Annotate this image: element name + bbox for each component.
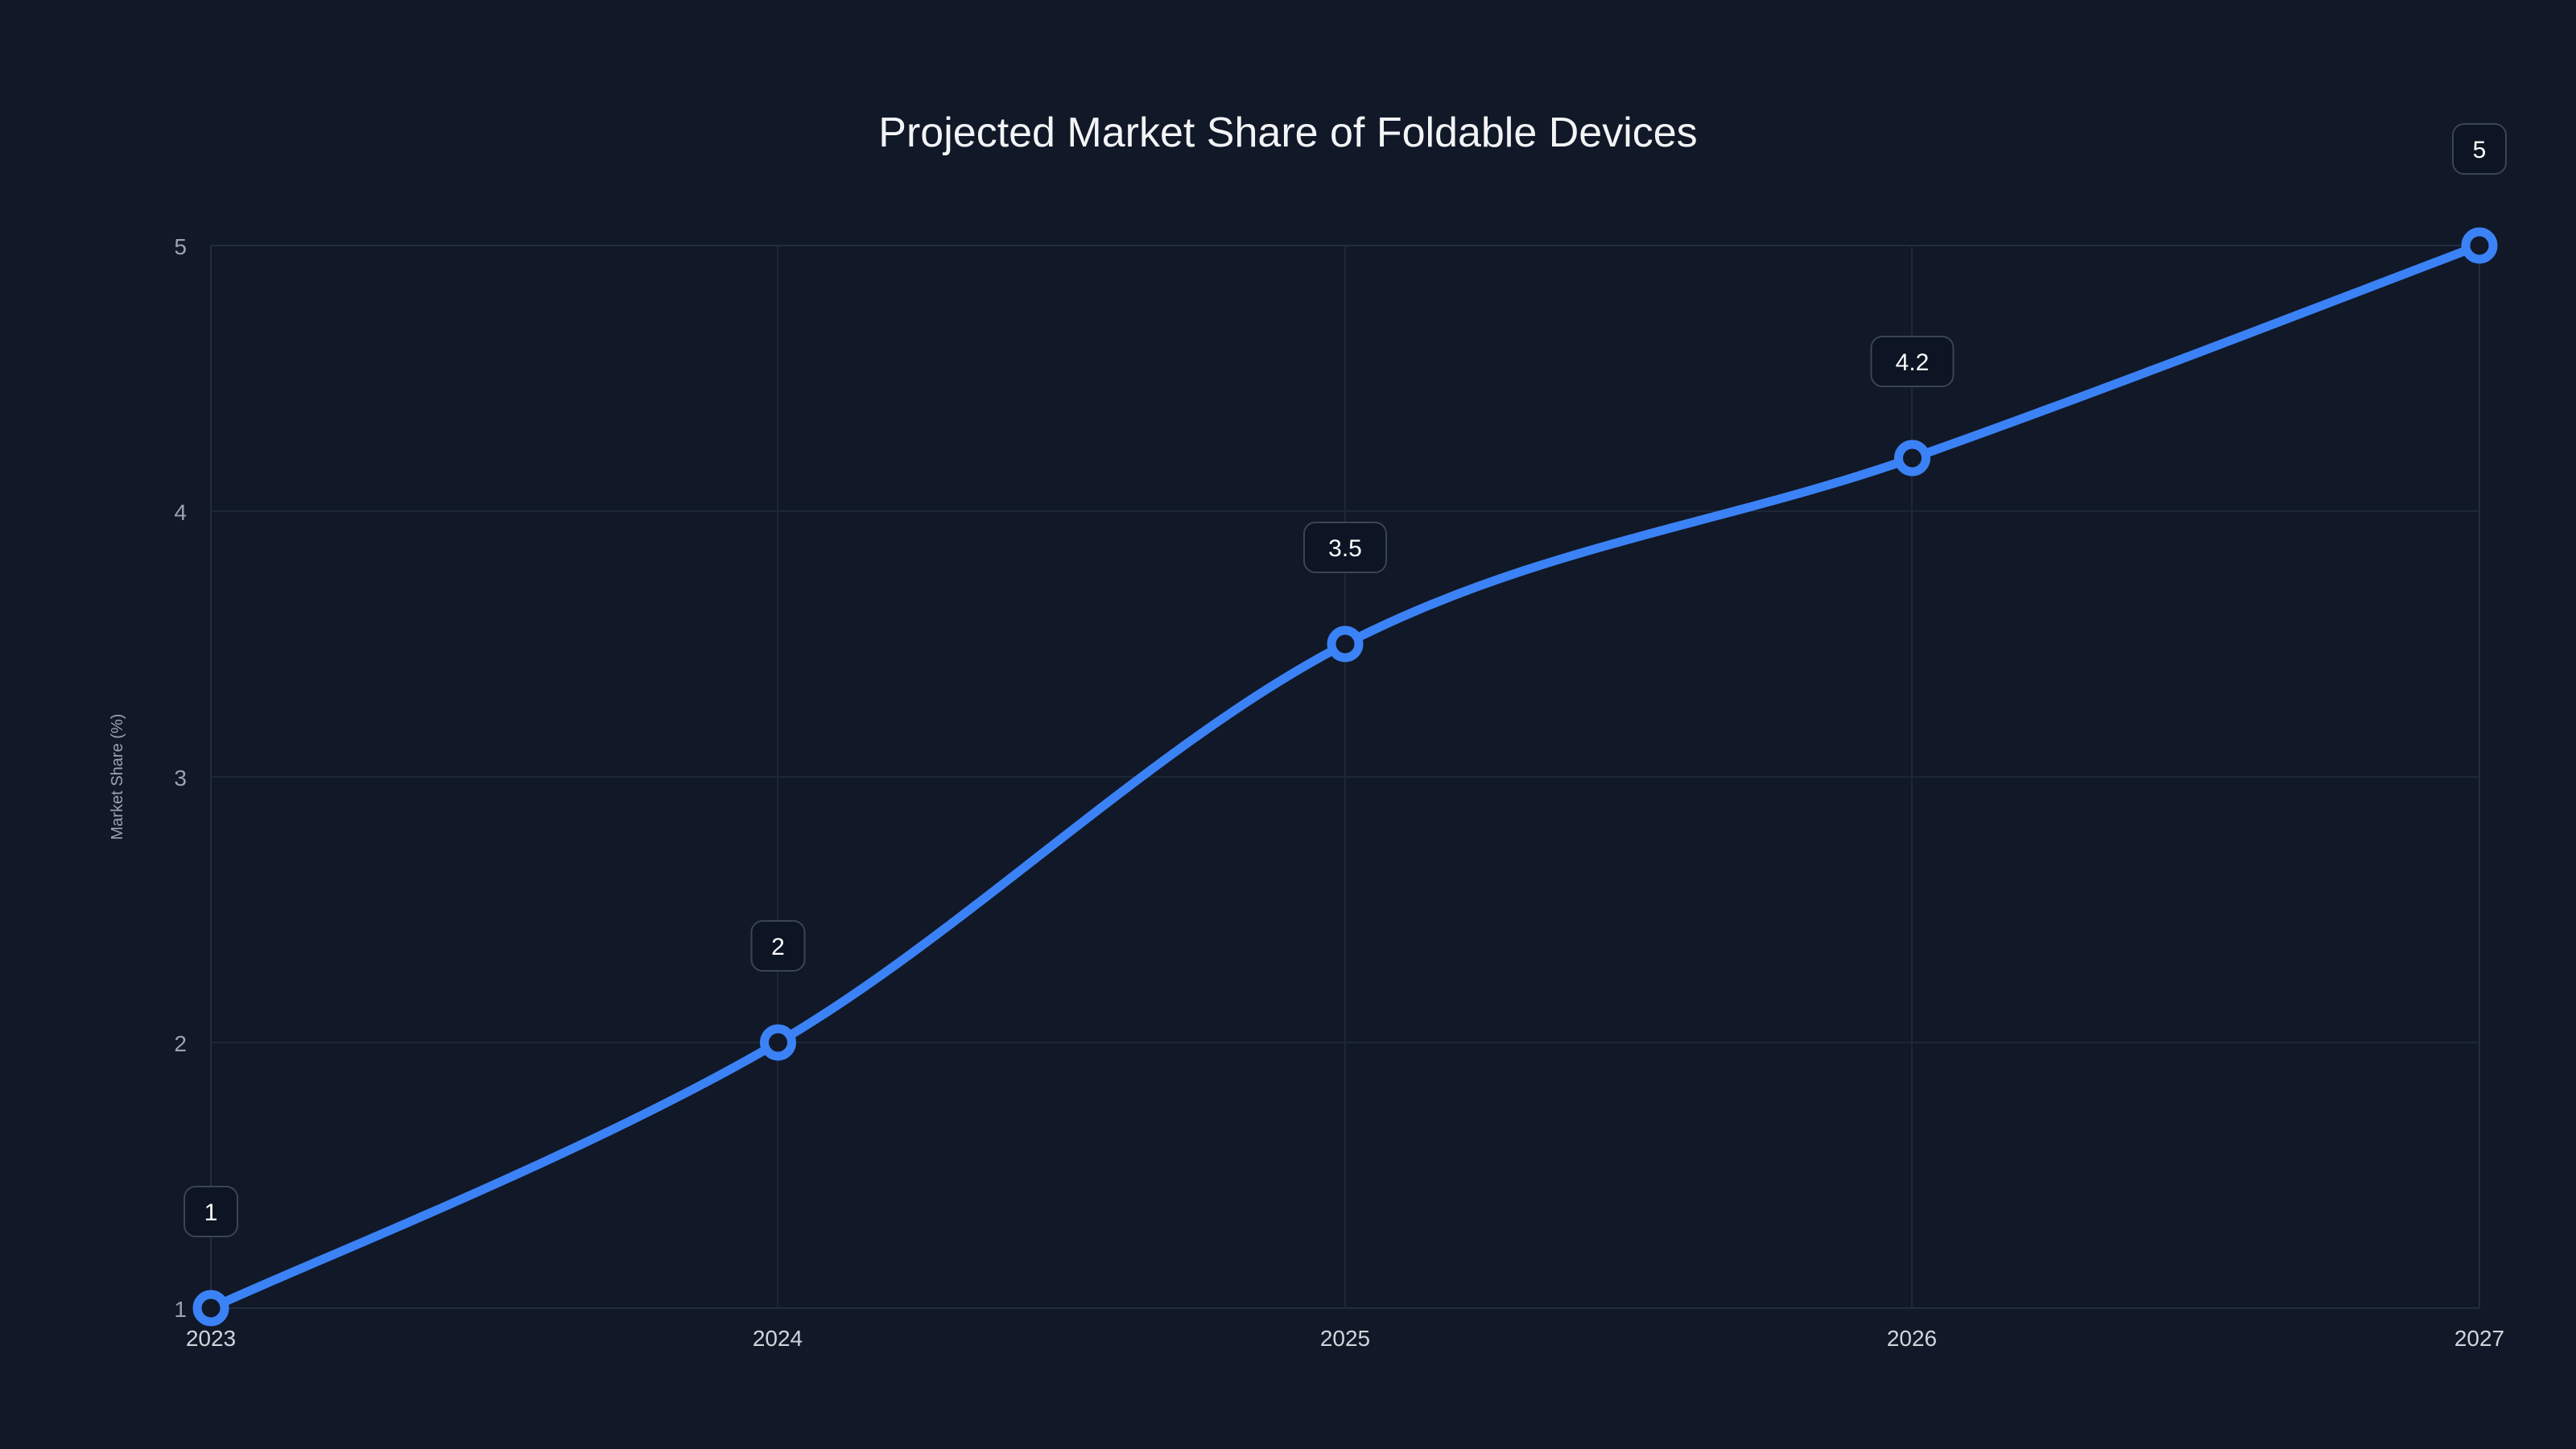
- line-chart: Projected Market Share of Foldable Devic…: [0, 0, 2576, 1449]
- data-label-badge-2024: 2: [752, 921, 805, 971]
- data-point-marker-2027[interactable]: [2466, 232, 2493, 259]
- ytick-label-5: 5: [174, 234, 187, 259]
- badge-label-2024: 2: [771, 934, 785, 960]
- data-point-marker-2025[interactable]: [1331, 630, 1359, 658]
- ytick-label-1: 1: [174, 1297, 187, 1322]
- data-point-marker-2024[interactable]: [765, 1029, 792, 1056]
- badge-label-2023: 1: [204, 1199, 218, 1226]
- xtick-label-2027: 2027: [2454, 1326, 2504, 1351]
- xtick-label-2023: 2023: [186, 1326, 236, 1351]
- chart-container: Projected Market Share of Foldable Devic…: [0, 0, 2576, 1449]
- y-axis-title: Market Share (%): [109, 714, 126, 840]
- ytick-label-2: 2: [174, 1031, 187, 1056]
- data-label-badge-2027: 5: [2453, 124, 2506, 174]
- badge-label-2025: 3.5: [1328, 535, 1362, 562]
- badge-label-2027: 5: [2473, 137, 2487, 163]
- ytick-label-4: 4: [174, 500, 187, 525]
- data-label-badge-2026: 4.2: [1872, 336, 1954, 386]
- xtick-label-2024: 2024: [753, 1326, 803, 1351]
- data-point-marker-2023[interactable]: [197, 1294, 225, 1322]
- data-point-marker-2026[interactable]: [1899, 444, 1926, 472]
- badge-label-2026: 4.2: [1896, 349, 1930, 376]
- xtick-label-2025: 2025: [1320, 1326, 1370, 1351]
- ytick-label-3: 3: [174, 766, 187, 791]
- data-label-badge-2023: 1: [184, 1187, 237, 1236]
- data-label-badge-2025: 3.5: [1304, 522, 1386, 572]
- xtick-label-2026: 2026: [1887, 1326, 1937, 1351]
- chart-title: Projected Market Share of Foldable Devic…: [878, 109, 1697, 156]
